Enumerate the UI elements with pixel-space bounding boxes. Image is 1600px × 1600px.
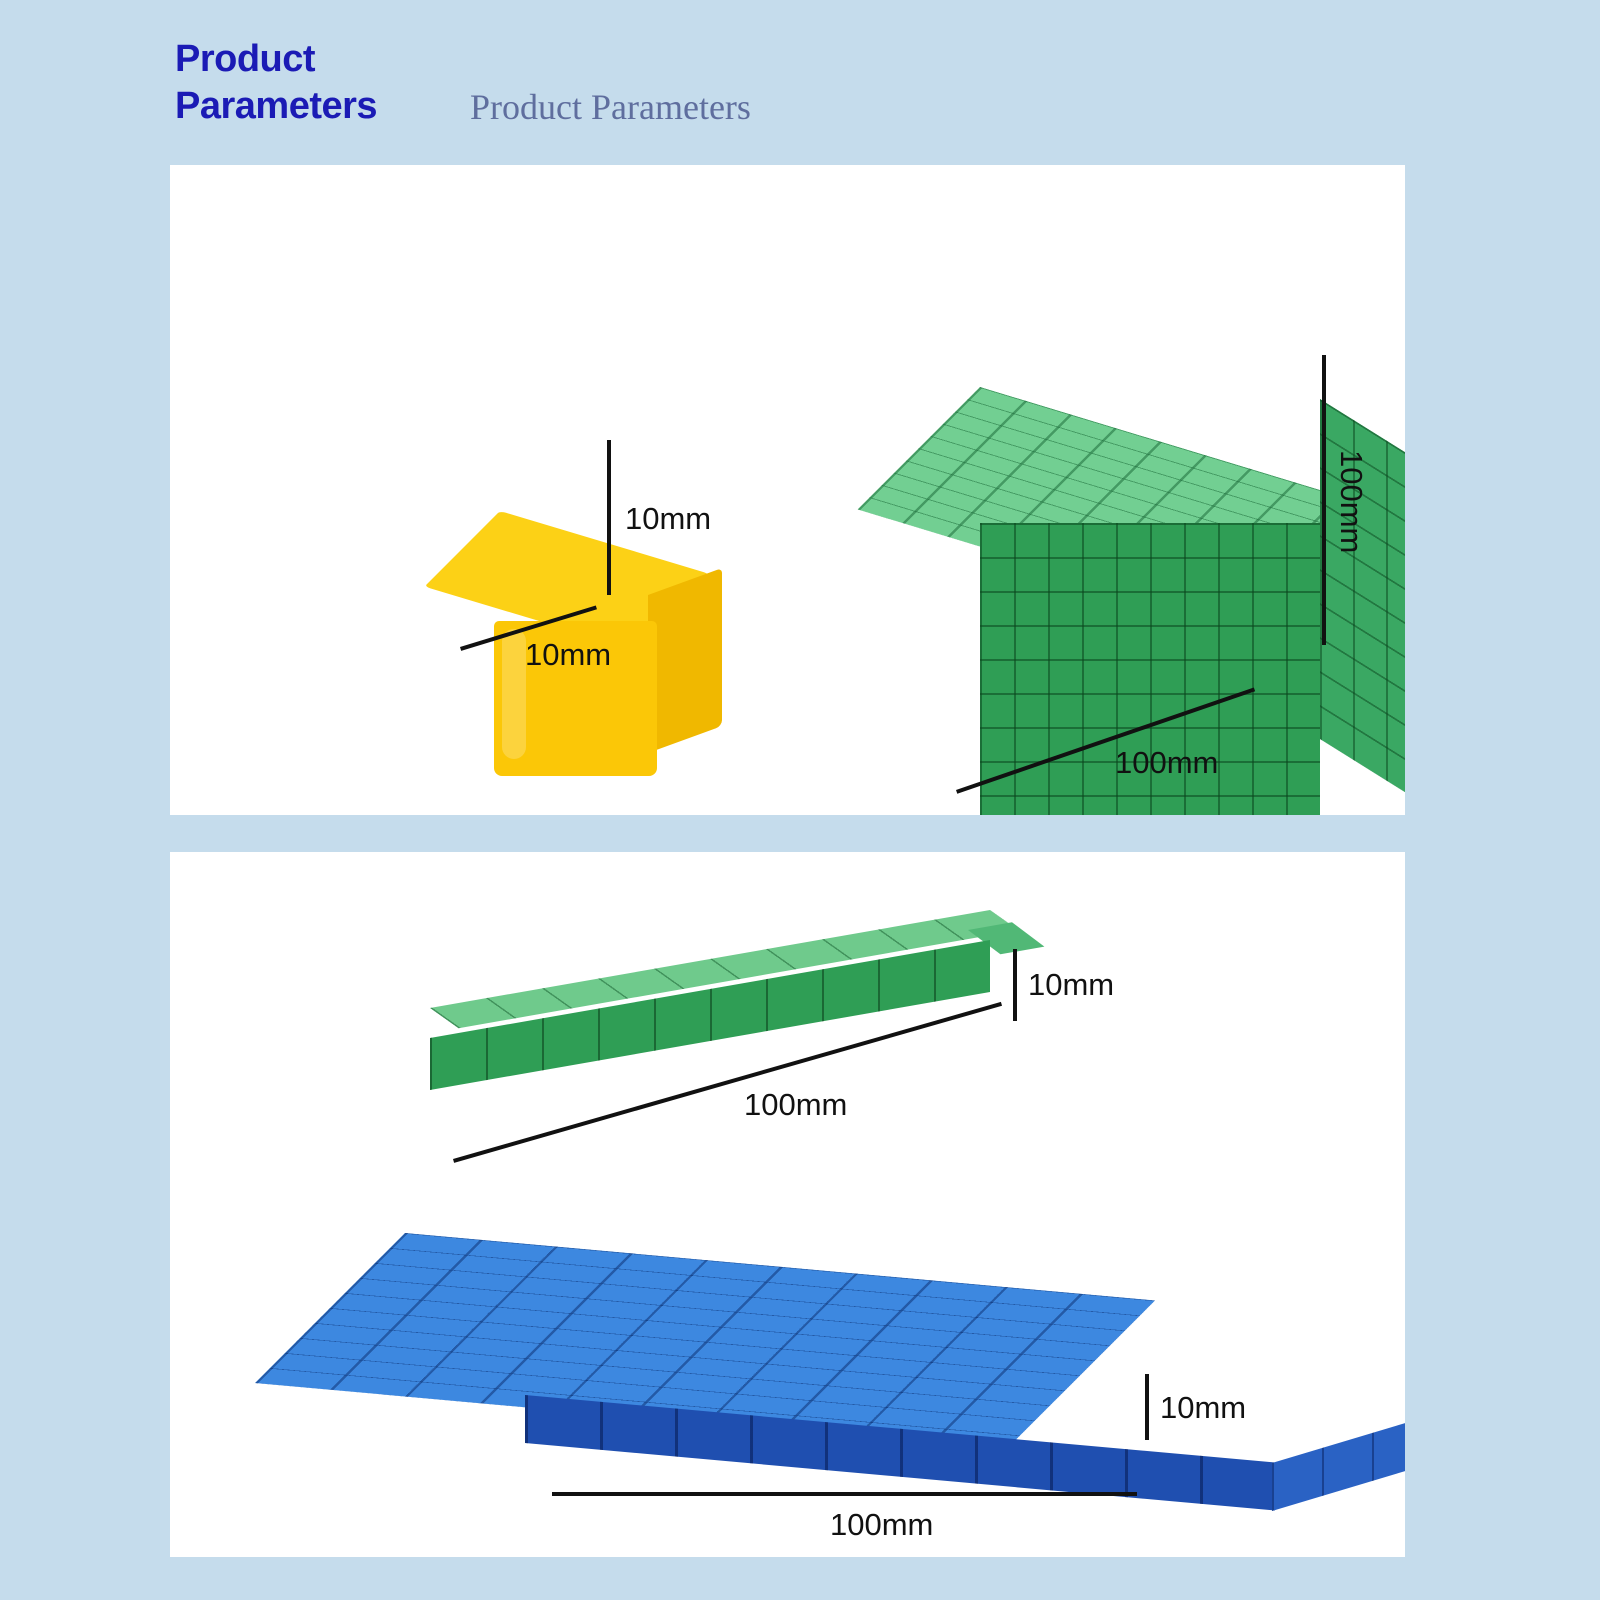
hundred-flat-length-label: 100mm (830, 1507, 933, 1543)
page-title: Product Parameters (175, 36, 445, 130)
hundred-flat-length-rule (552, 1492, 1137, 1496)
unit-cube-highlight (502, 629, 526, 759)
unit-cube-right-face (648, 568, 722, 753)
hundred-flat-height-rule (1145, 1374, 1149, 1440)
unit-cube-height-label: 10mm (625, 501, 711, 537)
ten-rod-illustration (408, 930, 1008, 1130)
bottom-panel: 10mm 100mm 10mm 100mm (170, 852, 1405, 1557)
page-subtitle: Product Parameters (470, 86, 751, 128)
hundred-flat-height-label: 10mm (1160, 1390, 1246, 1426)
hundred-flat-side-face (1272, 1417, 1405, 1511)
unit-cube-height-rule (607, 440, 611, 595)
thousand-cube-height-label: 100mm (1333, 450, 1369, 553)
hundred-flat-illustration (395, 1215, 1175, 1505)
ten-rod-height-rule (1013, 949, 1017, 1021)
unit-cube-width-label: 10mm (525, 637, 611, 673)
page-header: Product Parameters Product Parameters (0, 0, 1600, 170)
top-panel: 10mm 10mm 100mm 100mm (170, 165, 1405, 815)
thousand-cube-width-label: 100mm (1115, 745, 1218, 781)
ten-rod-length-label: 100mm (744, 1087, 847, 1123)
thousand-cube-height-rule (1322, 355, 1326, 645)
ten-rod-height-label: 10mm (1028, 967, 1114, 1003)
